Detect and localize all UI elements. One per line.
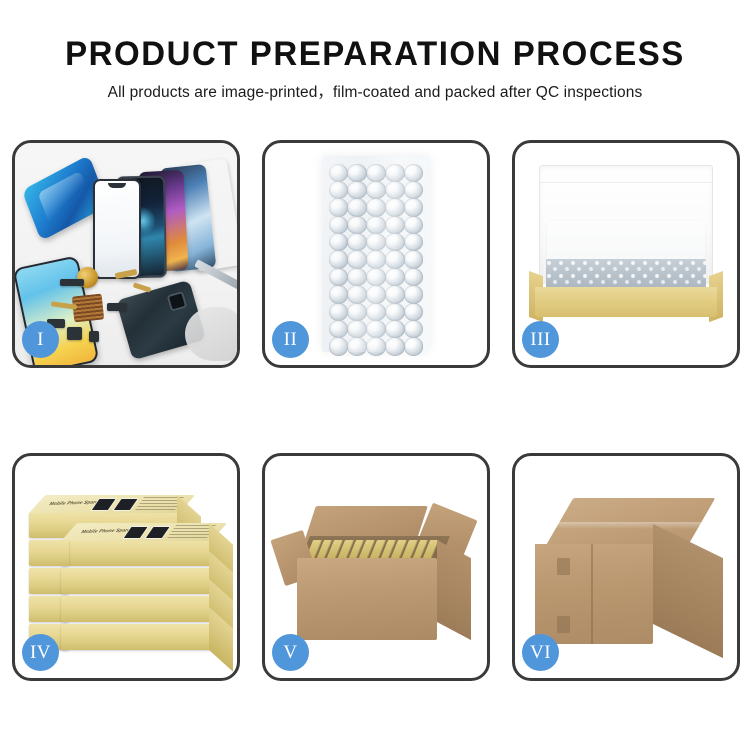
- sealed-shipping-carton: [535, 498, 723, 652]
- bubble: [404, 285, 424, 303]
- retail-box-stack-left-1: [29, 540, 69, 566]
- bubble: [347, 181, 367, 199]
- bubble: [385, 337, 405, 355]
- retail-box-row1-b: Mobile Phone Spare Parts: [61, 540, 211, 566]
- bubble: [347, 303, 367, 321]
- carton-tape-mark-bottom: [557, 616, 570, 633]
- bubble: [329, 233, 349, 251]
- process-steps-grid: I II III: [12, 140, 740, 681]
- retail-box-row-5: [61, 624, 211, 650]
- bubble-grid: [329, 164, 423, 344]
- bubble: [404, 198, 424, 216]
- step-badge-iii: III: [522, 321, 559, 358]
- bubble: [385, 216, 405, 234]
- bubble: [366, 198, 386, 216]
- page-title: PRODUCT PREPARATION PROCESS: [11, 34, 739, 74]
- bubble: [404, 216, 424, 234]
- bubble: [404, 337, 424, 355]
- page-header: PRODUCT PREPARATION PROCESS All products…: [0, 0, 750, 103]
- carton-tape-mark-top: [557, 558, 570, 575]
- retail-box-stack: Mobile Phone Spare Parts Mobile Phone Sp…: [21, 478, 237, 664]
- step-panel-v[interactable]: V: [262, 453, 490, 681]
- bubble: [404, 164, 424, 182]
- bubble: [404, 233, 424, 251]
- step-badge-i: I: [22, 321, 59, 358]
- bubble: [329, 164, 349, 182]
- phone-screen-fan: [71, 159, 237, 279]
- camera-module-part: [67, 327, 82, 340]
- bubble: [366, 320, 386, 338]
- bubble: [366, 216, 386, 234]
- bubble-wrap-sleeve: [322, 156, 430, 352]
- bubble: [385, 233, 405, 251]
- kraft-mailer-box: [529, 165, 723, 317]
- bubble: [347, 337, 367, 355]
- connector-part-2: [107, 303, 127, 311]
- bubble: [385, 164, 405, 182]
- button-part: [89, 331, 99, 342]
- bubble: [366, 285, 386, 303]
- bubble: [385, 198, 405, 216]
- carton-front-face: [297, 558, 437, 640]
- bubble: [347, 320, 367, 338]
- page-subtitle: All products are image-printed，film-coat…: [0, 83, 750, 103]
- retail-box-row-4: [61, 596, 211, 622]
- bubble: [347, 250, 367, 268]
- bubble: [404, 268, 424, 286]
- bubble: [347, 285, 367, 303]
- carton-right-face: [437, 540, 471, 640]
- bubble: [347, 233, 367, 251]
- box-front-panel: [535, 287, 717, 317]
- bubble: [329, 268, 349, 286]
- bubble: [329, 198, 349, 216]
- bubble: [385, 285, 405, 303]
- bubble: [366, 164, 386, 182]
- bubble: [404, 181, 424, 199]
- retail-box-top-face: Mobile Phone Spare Parts: [61, 523, 227, 541]
- step-panel-iii[interactable]: III: [512, 140, 740, 368]
- carton-side-face: [653, 524, 723, 658]
- bubble-wrapped-contents: [546, 259, 706, 289]
- step-panel-vi[interactable]: VI: [512, 453, 740, 681]
- step-panel-iv[interactable]: Mobile Phone Spare Parts Mobile Phone Sp…: [12, 453, 240, 681]
- bubble: [366, 233, 386, 251]
- bubble: [329, 181, 349, 199]
- bubble: [404, 250, 424, 268]
- bubble: [385, 320, 405, 338]
- bubble: [385, 181, 405, 199]
- retail-box-top-face: Mobile Phone Spare Parts: [29, 495, 195, 513]
- bubble: [329, 285, 349, 303]
- bubble: [329, 337, 349, 355]
- bubble: [404, 320, 424, 338]
- bubble: [366, 303, 386, 321]
- bubble: [347, 164, 367, 182]
- step-badge-v: V: [272, 634, 309, 671]
- step-panel-ii[interactable]: II: [262, 140, 490, 368]
- bubble: [385, 250, 405, 268]
- bubble: [385, 303, 405, 321]
- hand-tool-area: [185, 307, 237, 361]
- bubble: [404, 303, 424, 321]
- phone-front-glass: [93, 179, 141, 279]
- step-panel-i[interactable]: I: [12, 140, 240, 368]
- step-badge-vi: VI: [522, 634, 559, 671]
- bubble: [329, 303, 349, 321]
- bubble: [347, 198, 367, 216]
- bubble: [366, 250, 386, 268]
- bubble: [347, 216, 367, 234]
- bubble: [366, 268, 386, 286]
- bubble: [347, 268, 367, 286]
- carton-front-face: [535, 544, 653, 644]
- bubble: [366, 181, 386, 199]
- bubble: [329, 216, 349, 234]
- bubble: [329, 320, 349, 338]
- step-badge-ii: II: [272, 321, 309, 358]
- bubble: [366, 337, 386, 355]
- bubble: [329, 250, 349, 268]
- carton-seam: [591, 544, 593, 644]
- retail-box-row-3: [61, 568, 211, 594]
- open-shipping-carton: [283, 500, 475, 652]
- bubble: [385, 268, 405, 286]
- step-badge-iv: IV: [22, 634, 59, 671]
- connector-part-1: [60, 279, 84, 286]
